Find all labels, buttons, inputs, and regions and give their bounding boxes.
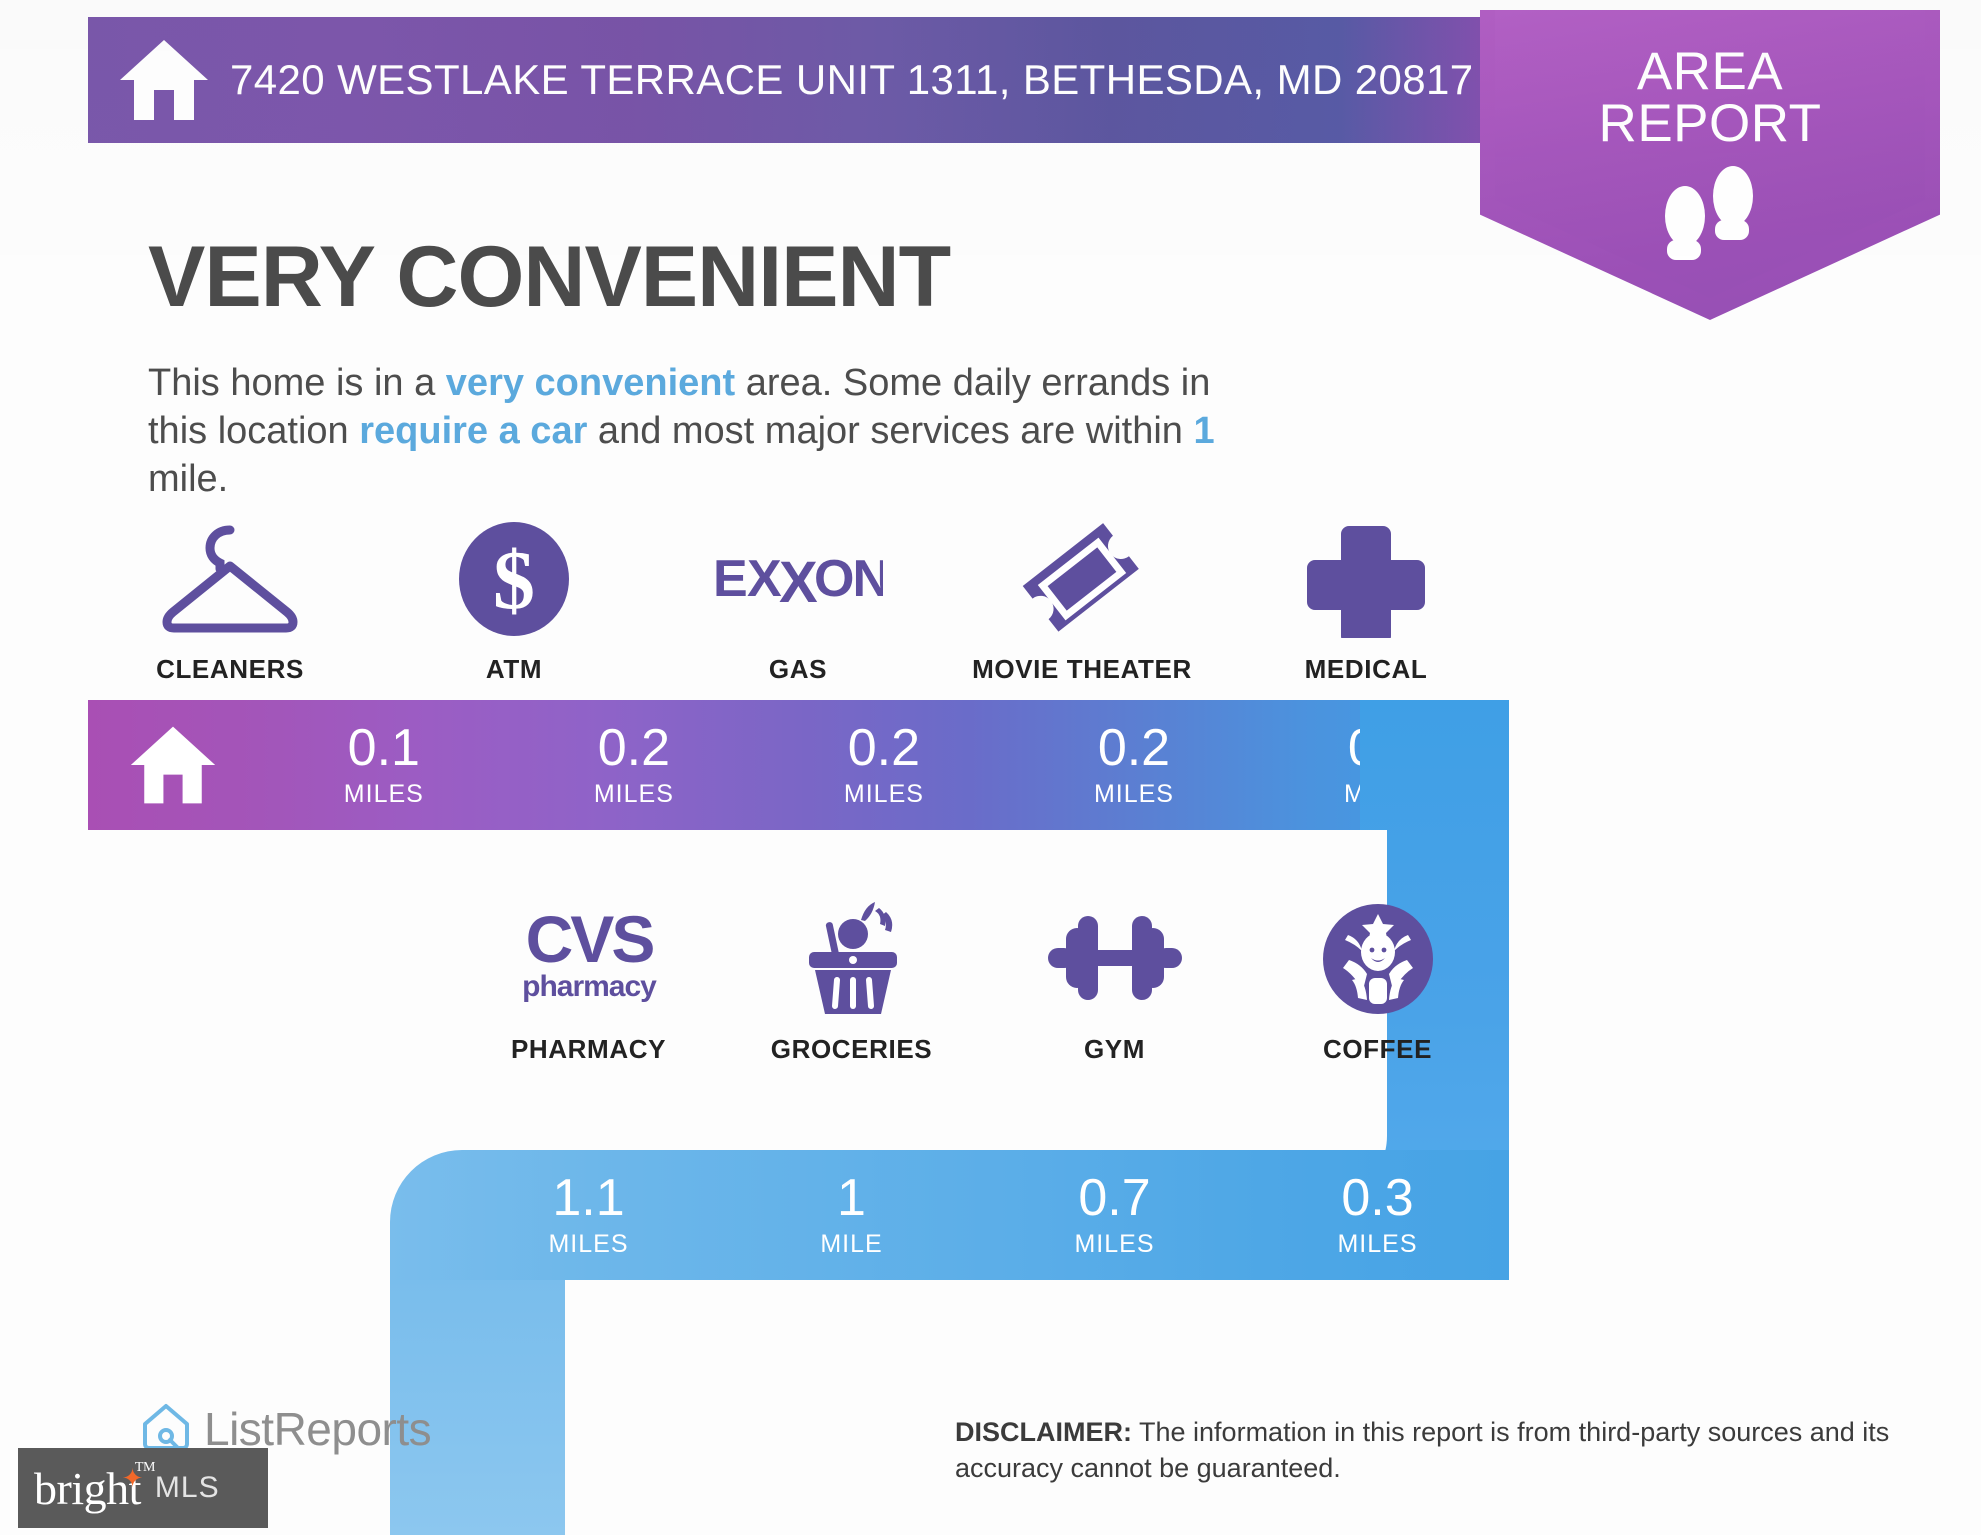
amenity-label: GYM: [1084, 1034, 1145, 1065]
bright-tm: TM: [135, 1460, 155, 1476]
distance-unit: MILES: [844, 780, 924, 809]
starbucks-logo-icon: [1319, 900, 1437, 1018]
exxon-logo-icon: E X X ON: [713, 520, 883, 638]
home-marker-icon: [88, 719, 259, 811]
description-part4: mile.: [148, 458, 228, 500]
distance-cell-groceries: 1 MILE: [720, 1150, 983, 1280]
description-highlight-convenient: very convenient: [446, 362, 735, 404]
badge-title: AREA REPORT: [1599, 46, 1822, 150]
amenity-groceries: GROCERIES: [720, 900, 983, 1065]
page-title: VERY CONVENIENT: [148, 228, 950, 327]
distance-cell-gas: 0.2 MILES: [759, 700, 1009, 830]
medical-cross-icon: [1307, 520, 1425, 638]
svg-text:X: X: [747, 550, 782, 608]
bright-wordmark: bright ✦ TM: [34, 1462, 141, 1515]
amenity-label: GROCERIES: [771, 1034, 932, 1065]
amenity-icon-row-1: CLEANERS $ ATM E X X ON GAS: [88, 520, 1509, 685]
amenity-label: PHARMACY: [511, 1034, 666, 1065]
dumbbell-icon: [1040, 900, 1190, 1018]
amenity-medical: MEDICAL: [1224, 520, 1508, 685]
disclaimer: DISCLAIMER: The information in this repo…: [955, 1415, 1965, 1487]
amenity-label: MEDICAL: [1305, 654, 1428, 685]
distance-cell-atm: 0.2 MILES: [509, 700, 759, 830]
svg-text:$: $: [493, 534, 535, 627]
amenity-label: MOVIE THEATER: [972, 654, 1192, 685]
amenity-coffee: COFFEE: [1246, 900, 1509, 1065]
svg-text:ON: ON: [814, 550, 883, 608]
distance-cell-gym: 0.7 MILES: [983, 1150, 1246, 1280]
distance-bar-row-1: 0.1 MILES 0.2 MILES 0.2 MILES 0.2 MILES …: [88, 700, 1509, 830]
distance-unit: MILES: [1074, 1230, 1154, 1259]
badge-title-line2: REPORT: [1599, 98, 1822, 150]
description-part1: This home is in a: [148, 362, 446, 404]
distance-value: 0.2: [1098, 722, 1170, 774]
distance-value: 0.7: [1078, 1172, 1150, 1224]
amenity-cleaners: CLEANERS: [88, 520, 372, 685]
home-icon: [116, 32, 212, 128]
area-report-page: 7420 WESTLAKE TERRACE UNIT 1311, BETHESD…: [0, 0, 1981, 1535]
description-paragraph: This home is in a very convenient area. …: [148, 360, 1218, 504]
amenity-icon-row-2: CVS pharmacy PHARMACY: [457, 900, 1509, 1065]
badge-title-line1: AREA: [1599, 46, 1822, 98]
distance-cell-cleaners: 0.1 MILES: [259, 700, 509, 830]
distance-value: 0.3: [1341, 1172, 1413, 1224]
grocery-basket-icon: [787, 900, 917, 1018]
svg-text:X: X: [779, 550, 818, 614]
amenity-gym: GYM: [983, 900, 1246, 1065]
distance-cell-movie-theater: 0.2 MILES: [1009, 700, 1259, 830]
distance-unit: MILE: [820, 1230, 882, 1259]
amenity-label: CLEANERS: [156, 654, 304, 685]
dollar-circle-icon: $: [454, 520, 574, 638]
distance-value: 1: [837, 1172, 866, 1224]
footprints-icon: [1635, 164, 1785, 279]
distance-value: 0.2: [848, 722, 920, 774]
property-address: 7420 WESTLAKE TERRACE UNIT 1311, BETHESD…: [230, 56, 1474, 104]
distance-cell-pharmacy: 1.1 MILES: [457, 1150, 720, 1280]
bright-mls-watermark: bright ✦ TM MLS: [18, 1448, 268, 1528]
description-highlight-miles: 1: [1193, 410, 1214, 452]
cvs-pharmacy-logo-icon: CVS pharmacy: [509, 900, 669, 1018]
amenity-label: COFFEE: [1323, 1034, 1432, 1065]
distance-unit: MILES: [594, 780, 674, 809]
amenity-gas: E X X ON GAS: [656, 520, 940, 685]
amenity-pharmacy: CVS pharmacy PHARMACY: [457, 900, 720, 1065]
header-bar: 7420 WESTLAKE TERRACE UNIT 1311, BETHESD…: [88, 17, 1509, 143]
snake-cutout-lower: [565, 1280, 1509, 1535]
amenity-movie-theater: MOVIE THEATER: [940, 520, 1224, 685]
svg-text:pharmacy: pharmacy: [522, 970, 657, 1003]
distance-value: 0.2: [598, 722, 670, 774]
amenity-label: ATM: [486, 654, 542, 685]
amenity-label: GAS: [769, 654, 827, 685]
svg-text:E: E: [713, 550, 746, 608]
bar-lead-spacer: [390, 1150, 457, 1280]
area-report-badge: AREA REPORT: [1495, 10, 1925, 298]
distance-unit: MILES: [548, 1230, 628, 1259]
distance-cell-coffee: 0.3 MILES: [1246, 1150, 1509, 1280]
description-highlight-car: require a car: [359, 410, 587, 452]
amenity-atm: $ ATM: [372, 520, 656, 685]
distance-bar-row-2: 1.1 MILES 1 MILE 0.7 MILES 0.3 MILES: [390, 1150, 1509, 1280]
distance-unit: MILES: [1094, 780, 1174, 809]
distance-unit: MILES: [344, 780, 424, 809]
disclaimer-label: DISCLAIMER:: [955, 1417, 1132, 1447]
description-part3: and most major services are within: [587, 410, 1193, 452]
distance-unit: MILES: [1337, 1230, 1417, 1259]
distance-value: 1.1: [552, 1172, 624, 1224]
hanger-icon: [155, 520, 305, 638]
mls-text: MLS: [155, 1471, 220, 1505]
distance-value: 0.1: [348, 722, 420, 774]
svg-text:CVS: CVS: [525, 902, 653, 976]
ticket-icon: [1017, 520, 1147, 638]
